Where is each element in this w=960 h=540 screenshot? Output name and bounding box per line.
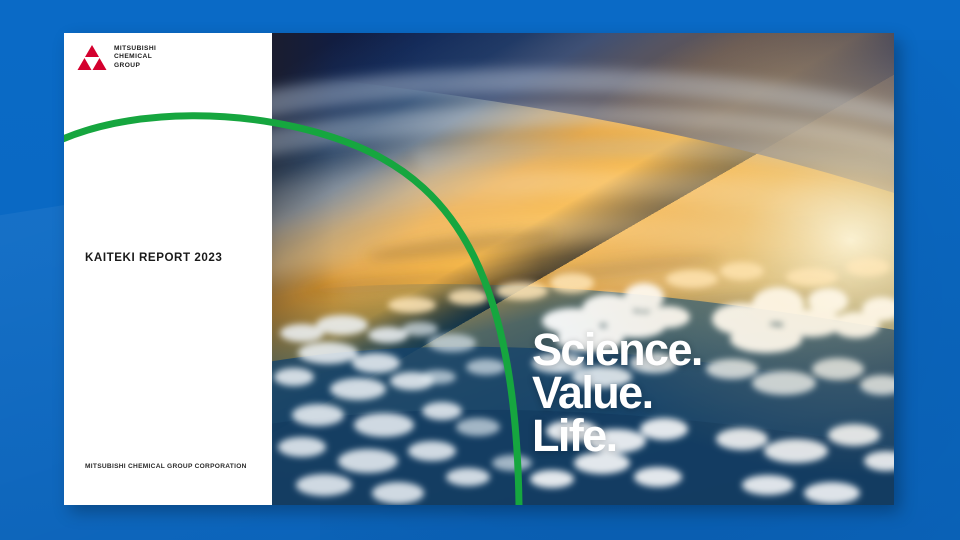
tagline-line-value: Value. [532, 372, 702, 415]
page-title: KAITEKI REPORT 2023 [85, 251, 222, 264]
mitsubishi-chemical-group-logo: MITSUBISHI CHEMICAL GROUP [77, 44, 156, 71]
tagline-line-science: Science. [532, 329, 702, 372]
brand-wordmark: MITSUBISHI CHEMICAL GROUP [114, 45, 156, 71]
corporation-footer: MITSUBISHI CHEMICAL GROUP CORPORATION [85, 463, 247, 470]
mitsubishi-three-diamond-mark [77, 44, 107, 71]
tagline-line-life: Life. [532, 415, 702, 458]
cover-left-panel: MITSUBISHI CHEMICAL GROUP KAITEKI REPORT… [64, 33, 272, 505]
tagline: Science. Value. Life. [532, 329, 702, 458]
slide-canvas: MITSUBISHI CHEMICAL GROUP KAITEKI REPORT… [0, 0, 960, 540]
report-cover-card[interactable]: MITSUBISHI CHEMICAL GROUP KAITEKI REPORT… [64, 33, 894, 505]
